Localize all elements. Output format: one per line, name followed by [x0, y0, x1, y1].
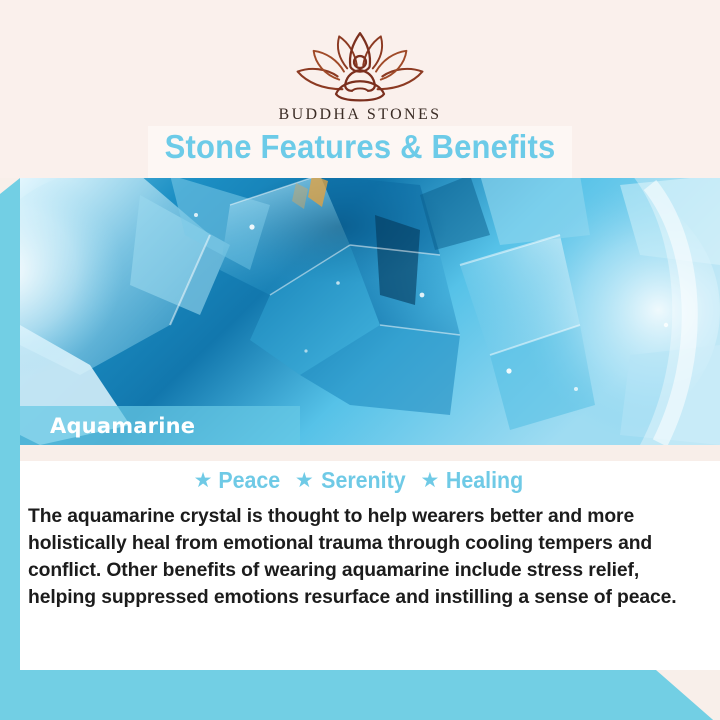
stone-name-ribbon: Aquamarine [20, 406, 300, 445]
lotus-meditation-icon [280, 30, 440, 102]
keyword-row: ★Peace★Serenity★Healing [20, 467, 700, 494]
crystal-illustration [20, 175, 720, 445]
star-icon: ★ [194, 468, 213, 493]
content-card: ★Peace★Serenity★Healing The aquamarine c… [20, 461, 720, 670]
keyword-healing: Healing [446, 467, 523, 494]
page-title: Stone Features & Benefits [22, 128, 699, 166]
brand-name: BUDDHA STONES [279, 106, 442, 124]
stone-name-label: Aquamarine [50, 414, 195, 438]
aquamarine-crystal-photo [20, 175, 720, 445]
decorative-bar-bottom [0, 670, 720, 720]
keyword-peace: Peace [219, 467, 281, 494]
benefits-description: The aquamarine crystal is thought to hel… [28, 503, 689, 611]
star-icon: ★ [295, 468, 314, 493]
brand-block: BUDDHA STONES [0, 30, 720, 124]
content-top-strip [20, 445, 720, 461]
star-icon: ★ [421, 468, 440, 493]
keyword-serenity: Serenity [321, 467, 405, 494]
decorative-bar-left [0, 178, 20, 670]
stone-benefits-poster: BUDDHA STONES Stone Features & Benefits [0, 0, 720, 720]
